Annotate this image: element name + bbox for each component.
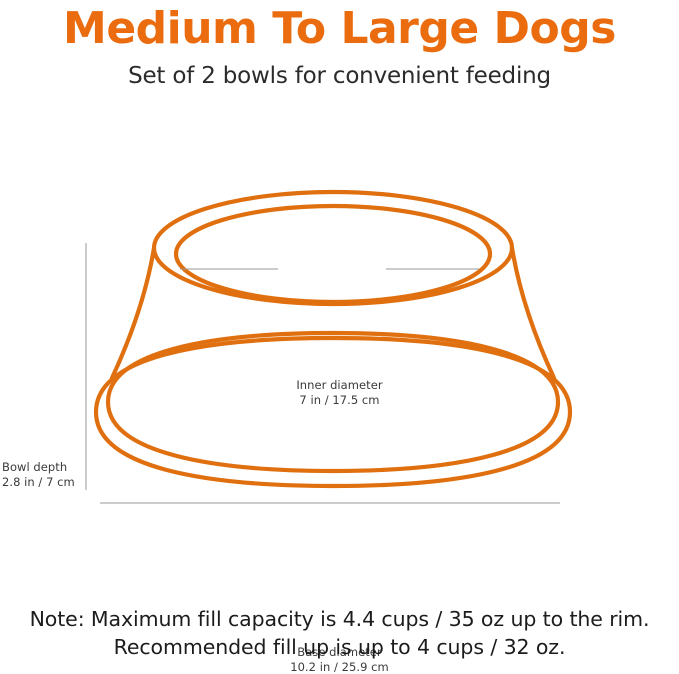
base-diameter-value: 10.2 in / 25.9 cm	[0, 660, 679, 674]
bowl-depth-label: Bowl depth 2.8 in / 7 cm	[2, 460, 75, 489]
inner-diameter-label-text: Inner diameter	[0, 378, 679, 393]
bowl-depth-value: 2.8 in / 7 cm	[2, 475, 75, 490]
bowl-illustration-svg	[0, 130, 679, 560]
page-subtitle: Set of 2 bowls for convenient feeding	[0, 55, 679, 91]
product-infographic: Medium To Large Dogs Set of 2 bowls for …	[0, 0, 679, 668]
base-outer-ellipse	[96, 338, 570, 486]
header: Medium To Large Dogs Set of 2 bowls for …	[0, 0, 679, 91]
rim-inner-ellipse	[176, 206, 490, 302]
bowl-diagram: Inner diameter 7 in / 17.5 cm Bowl depth…	[0, 130, 679, 560]
inner-diameter-label: Inner diameter 7 in / 17.5 cm	[0, 378, 679, 407]
capacity-note: Note: Maximum fill capacity is 4.4 cups …	[0, 605, 679, 661]
page-title: Medium To Large Dogs	[0, 0, 679, 55]
capacity-note-line-2: Recommended fill up is up to 4 cups / 32…	[0, 633, 679, 661]
bowl-depth-label-text: Bowl depth	[2, 460, 75, 475]
capacity-note-line-1: Note: Maximum fill capacity is 4.4 cups …	[0, 605, 679, 633]
rim-outer-ellipse	[154, 192, 512, 304]
inner-diameter-value: 7 in / 17.5 cm	[0, 393, 679, 408]
